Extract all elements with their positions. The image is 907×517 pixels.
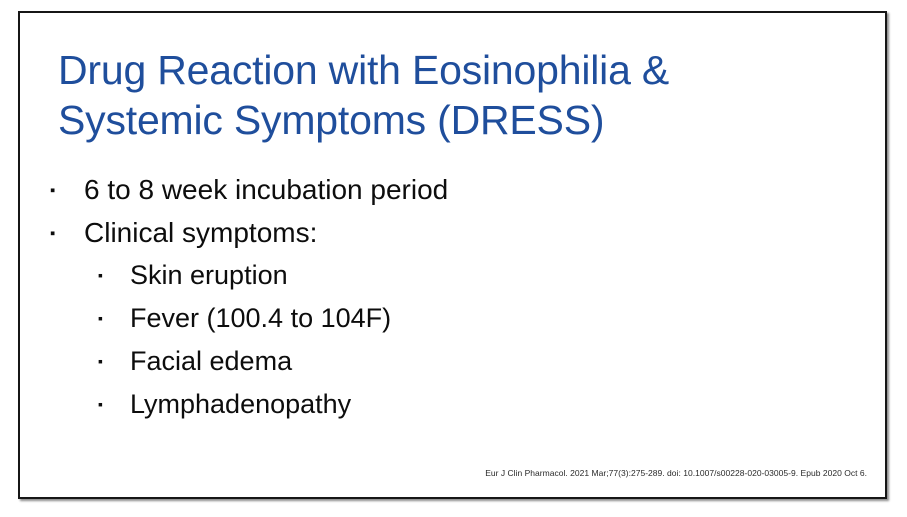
page-title: Drug Reaction with Eosinophilia & System… [58, 45, 818, 145]
list-item-label: Fever (100.4 to 104F) [130, 297, 850, 340]
slide-frame: Drug Reaction with Eosinophilia & System… [18, 11, 887, 499]
list-item-label: Facial edema [130, 340, 850, 383]
list-item: ▪ Fever (100.4 to 104F) [50, 297, 850, 340]
bullet-square-icon: ▪ [98, 311, 130, 325]
list-item: ▪ Clinical symptoms: [50, 211, 850, 254]
bullet-square-icon: ▪ [98, 268, 130, 282]
bullet-square-icon: ▪ [50, 183, 84, 198]
list-item: ▪ 6 to 8 week incubation period [50, 168, 850, 211]
bullet-square-icon: ▪ [98, 354, 130, 368]
bullet-list: ▪ 6 to 8 week incubation period ▪ Clinic… [50, 168, 850, 426]
list-item-label: Clinical symptoms: [84, 211, 850, 254]
bullet-square-icon: ▪ [98, 397, 130, 411]
list-item: ▪ Skin eruption [50, 254, 850, 297]
slide-body: Drug Reaction with Eosinophilia & System… [20, 13, 885, 497]
citation-reference: Eur J Clin Pharmacol. 2021 Mar;77(3):275… [485, 467, 867, 479]
list-item: ▪ Lymphadenopathy [50, 383, 850, 426]
list-item: ▪ Facial edema [50, 340, 850, 383]
list-item-label: 6 to 8 week incubation period [84, 168, 850, 211]
list-item-label: Lymphadenopathy [130, 383, 850, 426]
bullet-square-icon: ▪ [50, 226, 84, 241]
list-item-label: Skin eruption [130, 254, 850, 297]
